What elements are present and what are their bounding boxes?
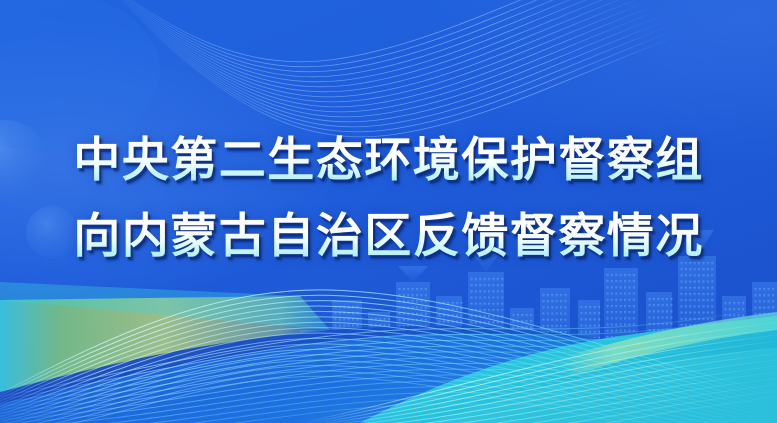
- headline-line-1: 中央第二生态环境保护督察组: [0, 126, 777, 196]
- banner-graphic: 中央第二生态环境保护督察组 向内蒙古自治区反馈督察情况 中央第二生态环境保护督察…: [0, 0, 777, 423]
- headline: 中央第二生态环境保护督察组 向内蒙古自治区反馈督察情况: [0, 126, 777, 272]
- headline-line-2: 向内蒙古自治区反馈督察情况: [0, 202, 777, 272]
- green-diagonal-band: [0, 296, 330, 392]
